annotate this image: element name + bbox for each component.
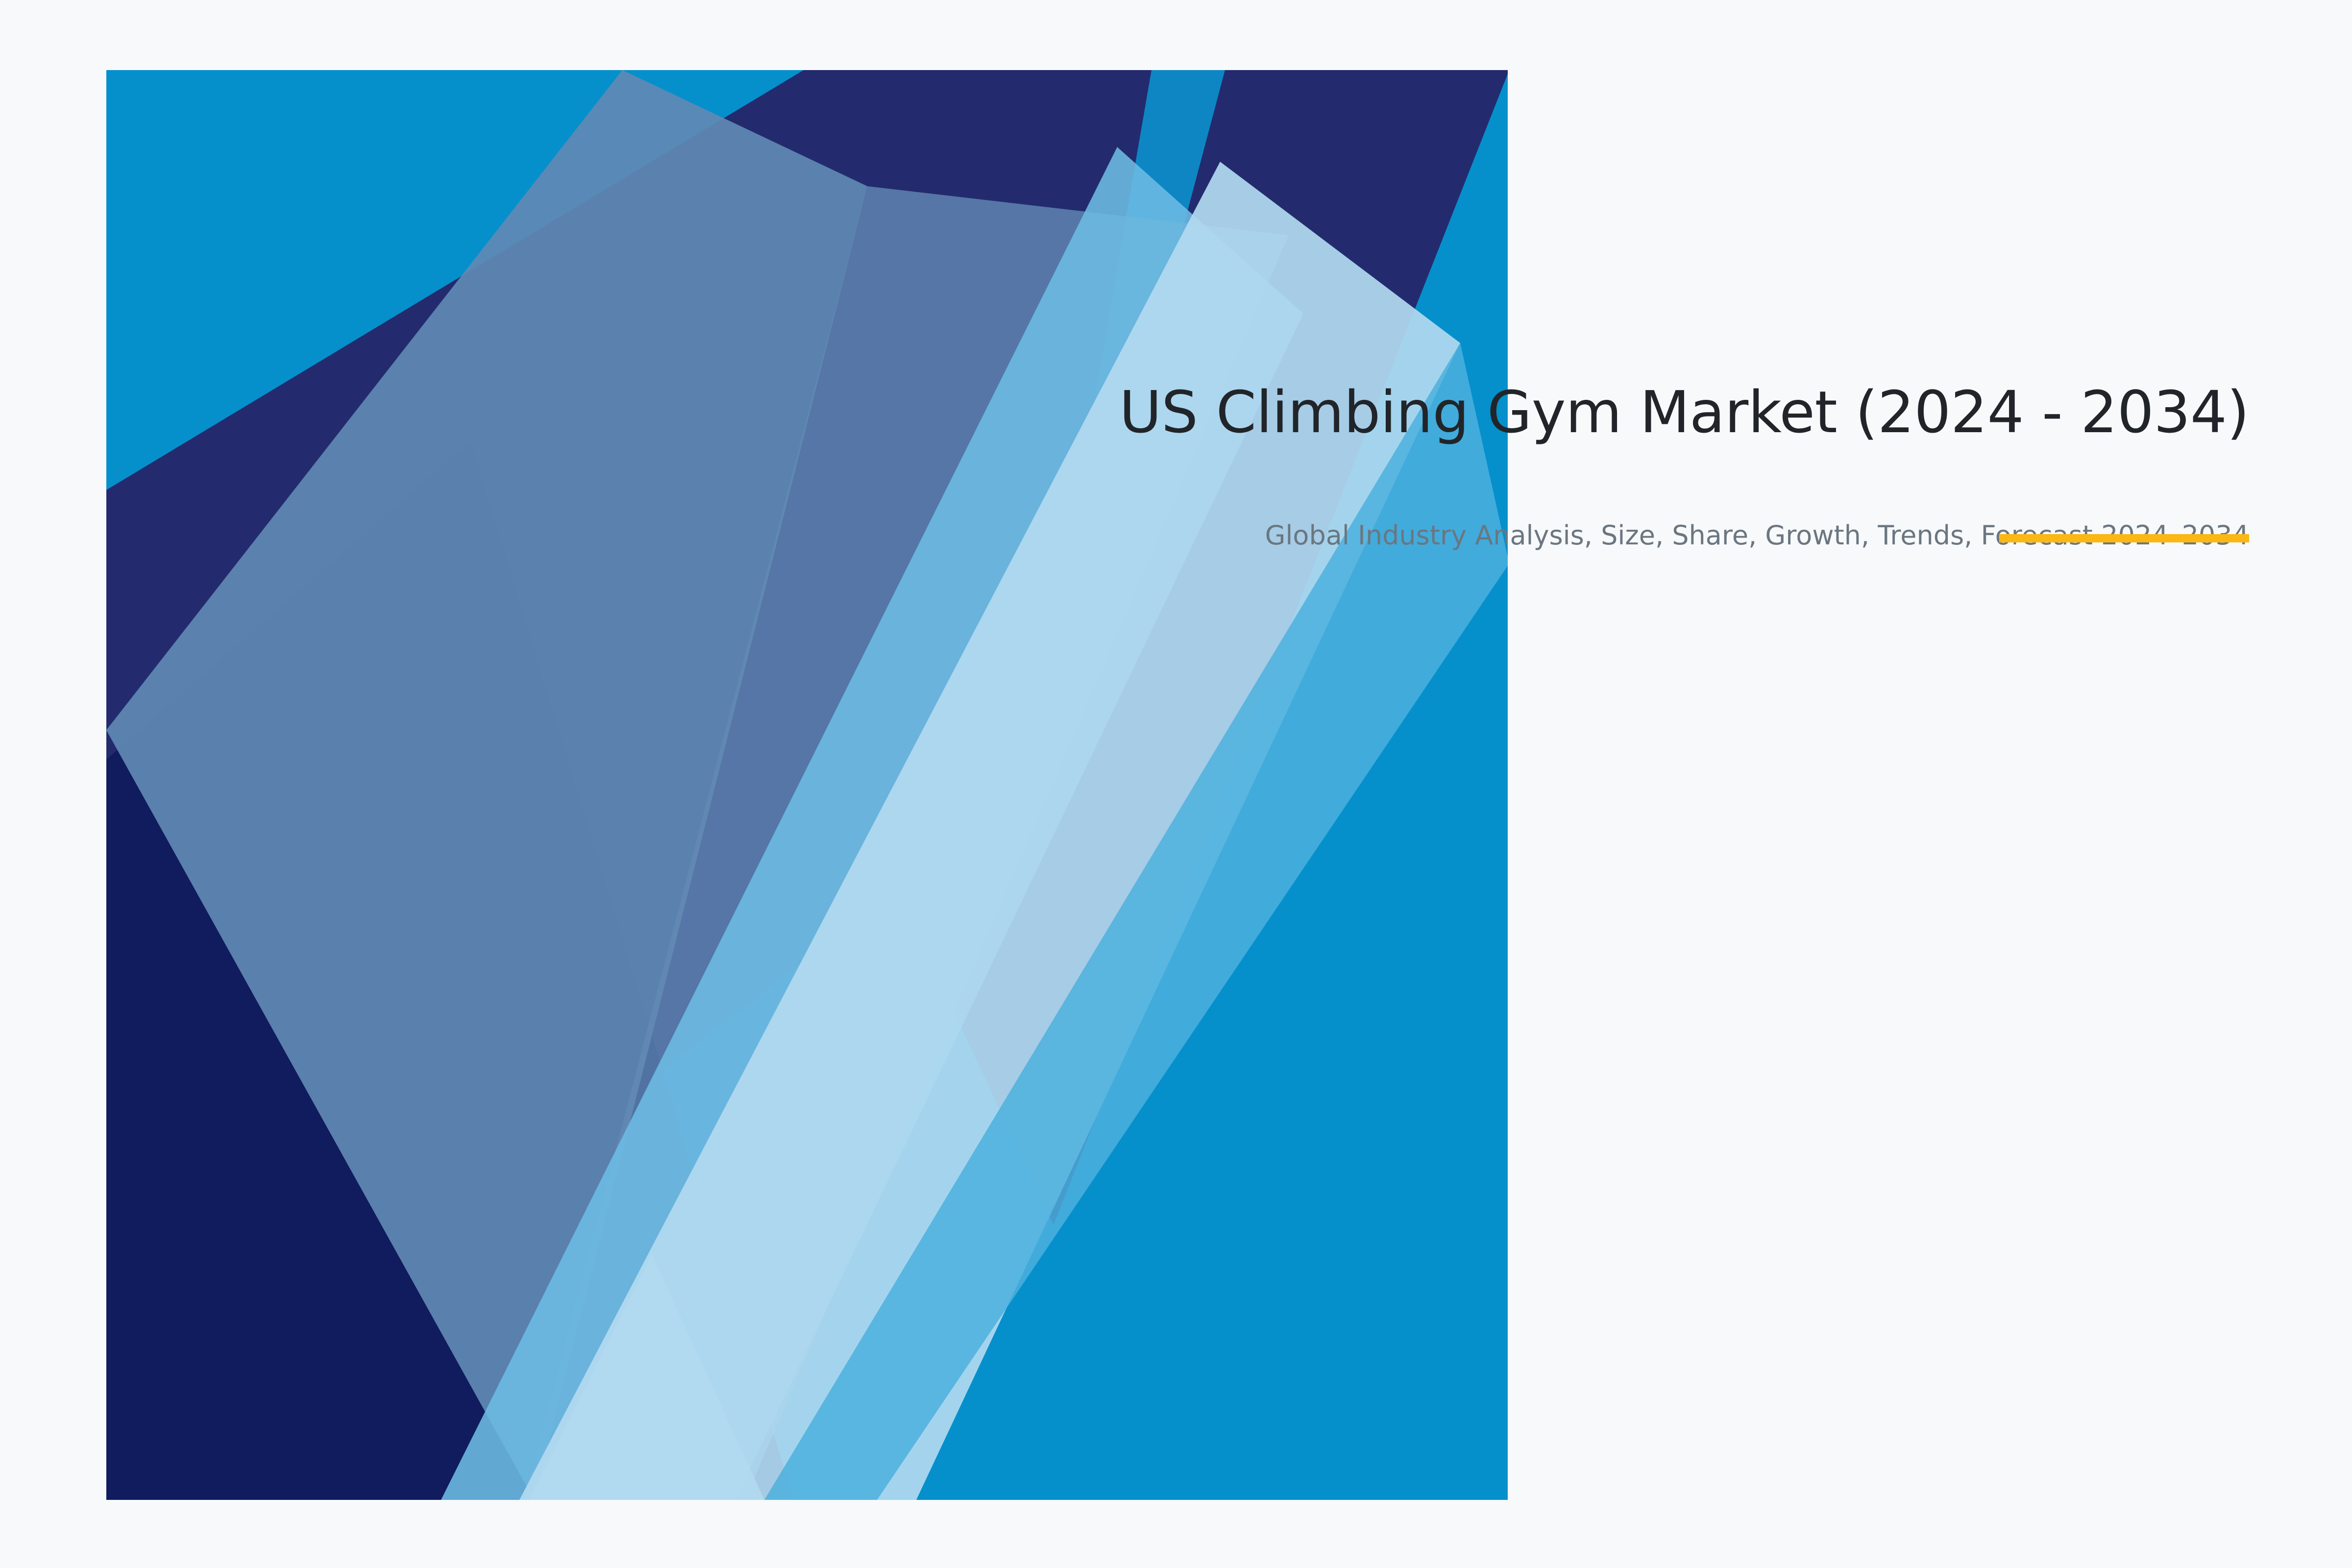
shape-deepnavy-lower: [106, 441, 794, 1500]
title-wrap: US Climbing Gym Market (2024 - 2034): [882, 372, 2249, 452]
shape-navy-wedge: [106, 70, 1509, 1500]
abstract-geometric-banner: [0, 0, 1568, 1568]
shape-deepnavy-spike: [206, 725, 554, 1500]
cover-text-block: US Climbing Gym Market (2024 - 2034) Glo…: [882, 372, 2249, 555]
shape-cyan-base: [106, 70, 1509, 1500]
shape-paleblue-band: [519, 162, 1460, 1500]
shape-pale-vee: [529, 1254, 764, 1500]
shape-midblue-band: [441, 147, 1303, 1500]
shape-navy-right: [710, 70, 1509, 1225]
cover-page: US Climbing Gym Market (2024 - 2034) Glo…: [0, 0, 2352, 1568]
page-title: US Climbing Gym Market (2024 - 2034): [882, 372, 2249, 452]
title-accent-underline: [1999, 534, 2249, 542]
shape-slate-overlay: [106, 70, 867, 1500]
